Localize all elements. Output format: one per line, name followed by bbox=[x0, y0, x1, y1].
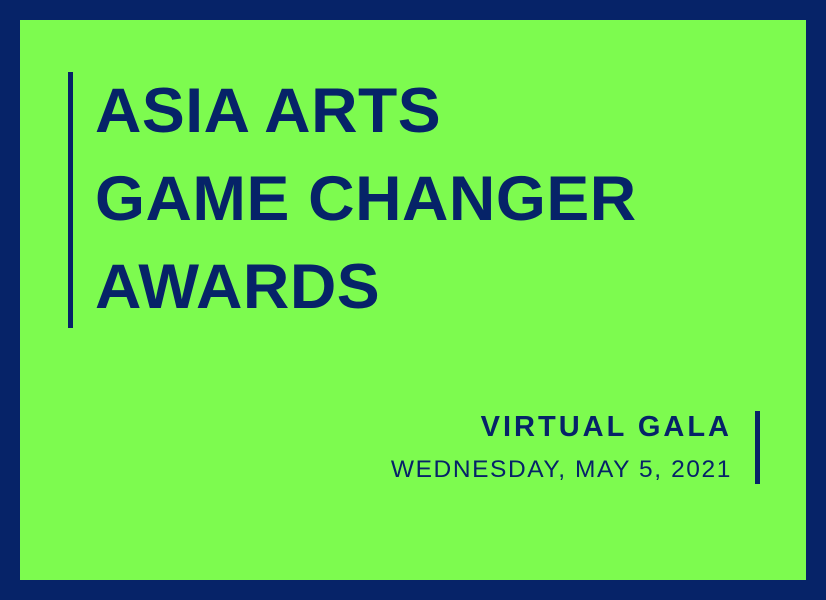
poster-canvas: ASIA ARTS GAME CHANGER AWARDS VIRTUAL GA… bbox=[0, 0, 826, 600]
event-details-text: VIRTUAL GALA WEDNESDAY, MAY 5, 2021 bbox=[391, 405, 755, 491]
event-date: WEDNESDAY, MAY 5, 2021 bbox=[391, 449, 732, 491]
event-details-block: VIRTUAL GALA WEDNESDAY, MAY 5, 2021 bbox=[391, 405, 760, 491]
title-lines: ASIA ARTS GAME CHANGER AWARDS bbox=[73, 67, 626, 331]
title-line-3: AWARDS bbox=[95, 243, 637, 331]
title-block: ASIA ARTS GAME CHANGER AWARDS bbox=[68, 67, 626, 331]
title-line-2: GAME CHANGER bbox=[95, 155, 637, 243]
vertical-rule-icon bbox=[755, 411, 760, 484]
title-line-1: ASIA ARTS bbox=[95, 67, 637, 155]
event-name: VIRTUAL GALA bbox=[391, 405, 732, 449]
